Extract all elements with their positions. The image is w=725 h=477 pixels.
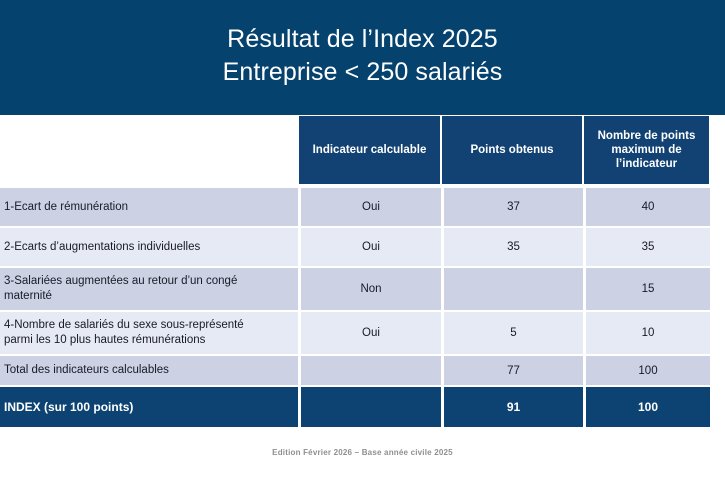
row-label: 4-Nombre de salariés du sexe sous-représ… <box>0 312 298 354</box>
table-row: 4-Nombre de salariés du sexe sous-représ… <box>0 312 710 354</box>
page-title-line-1: Résultat de l’Index 2025 <box>227 23 498 56</box>
row-calculable: Non <box>298 268 441 310</box>
table-row: 2-Ecarts d’augmentations individuelles O… <box>0 228 710 266</box>
table-header-cell-blank <box>0 115 298 185</box>
row-maximum: 15 <box>583 268 710 310</box>
page-title-line-2: Entreprise < 250 salariés <box>223 56 503 89</box>
table-row-index: INDEX (sur 100 points) 91 100 <box>0 387 710 427</box>
row-label-line-2: maternité <box>4 289 237 304</box>
row-points: 37 <box>441 188 583 226</box>
index-row-points: 91 <box>441 387 583 427</box>
table-row: 1-Ecart de rémunération Oui 37 40 <box>0 188 710 226</box>
index-row-label-text: INDEX (sur 100 points) <box>4 400 133 415</box>
slide-page: Résultat de l’Index 2025 Entreprise < 25… <box>0 0 725 477</box>
table-header-cell-calculable: Indicateur calculable <box>298 115 441 185</box>
row-label-text: 2-Ecarts d’augmentations individuelles <box>4 240 200 255</box>
index-row-calculable <box>298 387 441 427</box>
row-label-text: Total des indicateurs calculables <box>4 363 169 378</box>
table-header-cell-points: Points obtenus <box>441 115 583 185</box>
row-points <box>441 268 583 310</box>
row-maximum: 35 <box>583 228 710 266</box>
row-points: 35 <box>441 228 583 266</box>
row-label: 1-Ecart de rémunération <box>0 188 298 226</box>
row-label-line-1: 3-Salariées augmentées au retour d’un co… <box>4 274 237 289</box>
row-label-text: 4-Nombre de salariés du sexe sous-représ… <box>4 318 244 348</box>
index-row-maximum: 100 <box>583 387 710 427</box>
table-row-total: Total des indicateurs calculables 77 100 <box>0 356 710 385</box>
footer-note: Edition Février 2026 – Base année civile… <box>0 448 725 457</box>
row-points: 77 <box>441 356 583 385</box>
row-points: 5 <box>441 312 583 354</box>
row-label: 3-Salariées augmentées au retour d’un co… <box>0 268 298 310</box>
row-calculable: Oui <box>298 228 441 266</box>
row-label-line-1: 4-Nombre de salariés du sexe sous-représ… <box>4 318 244 333</box>
row-maximum: 100 <box>583 356 710 385</box>
row-label: Total des indicateurs calculables <box>0 356 298 385</box>
row-label-text: 1-Ecart de rémunération <box>4 200 128 215</box>
row-maximum: 10 <box>583 312 710 354</box>
row-calculable: Oui <box>298 312 441 354</box>
row-calculable: Oui <box>298 188 441 226</box>
index-row-label: INDEX (sur 100 points) <box>0 387 298 427</box>
row-label: 2-Ecarts d’augmentations individuelles <box>0 228 298 266</box>
row-label-text: 3-Salariées augmentées au retour d’un co… <box>4 274 237 304</box>
row-calculable <box>298 356 441 385</box>
row-maximum: 40 <box>583 188 710 226</box>
row-label-line-2: parmi les 10 plus hautes rémunérations <box>4 333 244 348</box>
table-header-row: Indicateur calculable Points obtenus Nom… <box>0 115 710 185</box>
table-row: 3-Salariées augmentées au retour d’un co… <box>0 268 710 310</box>
index-results-table: Indicateur calculable Points obtenus Nom… <box>0 115 725 427</box>
title-banner: Résultat de l’Index 2025 Entreprise < 25… <box>0 0 725 115</box>
table-header-cell-maximum: Nombre de points maximum de l’indicateur <box>583 115 710 185</box>
